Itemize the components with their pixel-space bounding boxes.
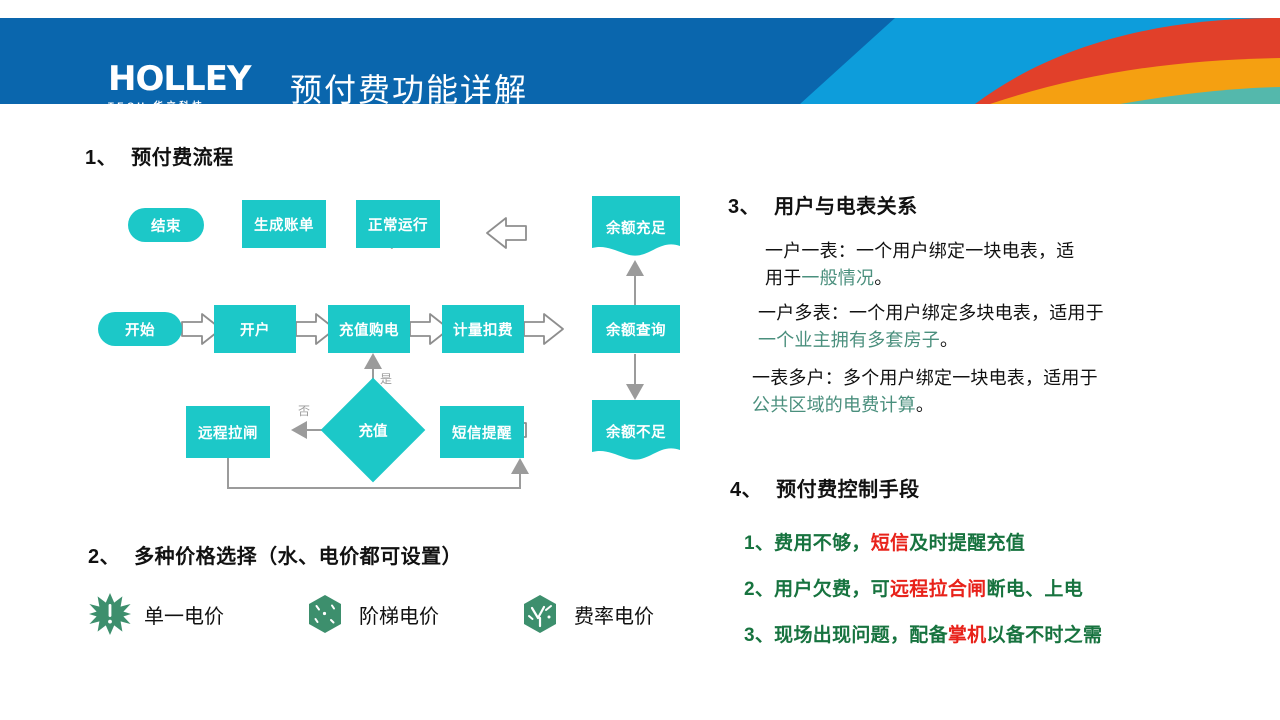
- slide-root: HOLLEY TECH 华立科技 预付费功能详解 1、预付费流程: [0, 0, 1280, 720]
- section-2-title: 多种价格选择（水、电价都可设置）: [134, 546, 462, 568]
- section-1-title: 预付费流程: [131, 147, 234, 169]
- relation-0-tail: 。: [874, 268, 892, 288]
- prepaid-flowchart: 结束 生成账单 正常运行 余额充足 开始 开户 充值购电 计量扣费 余额查询 远…: [80, 180, 700, 500]
- flow-node-end: 结束: [128, 208, 204, 242]
- relation-2-tail: 。: [916, 395, 934, 415]
- control-0-number: 1、: [744, 533, 774, 554]
- section-3-number: 3、: [728, 196, 760, 218]
- control-1-pre: 用户欠费，可: [774, 579, 890, 600]
- price-option-0-label: 单一电价: [144, 600, 224, 629]
- price-option-1[interactable]: 阶梯电价: [303, 592, 439, 636]
- control-2-pre: 现场出现问题，配备: [774, 625, 948, 646]
- flow-node-recharge-decision-label: 充值: [359, 420, 388, 441]
- section-1-number: 1、: [85, 147, 117, 169]
- control-1-red: 远程拉合闸: [890, 579, 987, 600]
- flow-node-balance-insufficient: 余额不足: [592, 400, 680, 462]
- section-heading-1: 1、预付费流程: [85, 141, 234, 170]
- slide-header: HOLLEY TECH 华立科技 预付费功能详解: [0, 18, 1280, 104]
- page-title: 预付费功能详解: [290, 65, 528, 104]
- flow-node-balance-sufficient-label: 余额充足: [606, 217, 666, 238]
- section-heading-3: 3、用户与电表关系: [728, 190, 918, 219]
- section-heading-2: 2、多种价格选择（水、电价都可设置）: [88, 540, 462, 569]
- flow-node-balance-query: 余额查询: [592, 305, 680, 353]
- relation-1-highlight: 一个业主拥有多套房子: [758, 330, 940, 350]
- flow-node-start: 开始: [98, 312, 182, 346]
- control-2-number: 3、: [744, 625, 774, 646]
- flow-node-recharge-decision: 充值: [336, 393, 410, 467]
- burst-alert-icon: [88, 592, 132, 636]
- relation-item-1: 一户多表：一个用户绑定多块电表，适用于一个业主拥有多套房子。: [758, 300, 1108, 354]
- relation-1-tail: 。: [940, 330, 958, 350]
- control-1-number: 2、: [744, 579, 774, 600]
- control-0-red: 短信: [871, 533, 910, 554]
- flow-node-normal-run: 正常运行: [356, 200, 440, 248]
- price-option-1-label: 阶梯电价: [359, 600, 439, 629]
- price-option-0[interactable]: 单一电价: [88, 592, 224, 636]
- flow-edge-label-yes: 是: [380, 370, 392, 387]
- section-4-number: 4、: [730, 479, 762, 501]
- flow-node-generate-bill: 生成账单: [242, 200, 326, 248]
- hexagon-rate-icon: [518, 592, 562, 636]
- control-measure-1: 2、用户欠费，可远程拉合闸断电、上电: [744, 574, 1083, 601]
- control-1-mid: 断电、上电: [987, 579, 1084, 600]
- flow-edge-label-no: 否: [298, 402, 310, 419]
- flow-node-recharge-buy: 充值购电: [328, 305, 410, 353]
- flow-node-sms-remind: 短信提醒: [440, 406, 524, 458]
- flow-node-remote-trip: 远程拉闸: [186, 406, 270, 458]
- section-heading-4: 4、预付费控制手段: [730, 473, 920, 502]
- section-2-number: 2、: [88, 546, 120, 568]
- control-0-mid: 及时提醒充值: [909, 533, 1025, 554]
- section-3-title: 用户与电表关系: [774, 196, 918, 218]
- relation-item-2: 一表多户：多个用户绑定一块电表，适用于公共区域的电费计算。: [752, 365, 1102, 419]
- control-2-red: 掌机: [948, 625, 987, 646]
- price-option-2-label: 费率电价: [574, 600, 654, 629]
- control-measure-0: 1、费用不够，短信及时提醒充值: [744, 528, 1025, 555]
- control-measure-2: 3、现场出现问题，配备掌机以备不时之需: [744, 620, 1102, 647]
- price-option-2[interactable]: 费率电价: [518, 592, 654, 636]
- control-2-mid: 以备不时之需: [986, 625, 1102, 646]
- flow-node-balance-sufficient: 余额充足: [592, 196, 680, 258]
- holley-logo: HOLLEY TECH 华立科技: [108, 62, 260, 104]
- hexagon-step-icon: [303, 592, 347, 636]
- relation-item-0: 一户一表：一个用户绑定一块电表，适用于一般情况。: [765, 238, 1080, 292]
- relation-2-lead: 一表多户：多个用户绑定一块电表，适用于: [752, 368, 1098, 388]
- flow-node-open-account: 开户: [214, 305, 296, 353]
- flow-node-metering-deduct: 计量扣费: [442, 305, 524, 353]
- control-0-pre: 费用不够，: [774, 533, 871, 554]
- relation-1-lead: 一户多表：一个用户绑定多块电表，适用于: [758, 303, 1104, 323]
- flow-node-balance-insufficient-label: 余额不足: [606, 421, 666, 442]
- relation-0-highlight: 一般情况: [801, 268, 874, 288]
- relation-2-highlight: 公共区域的电费计算: [752, 395, 916, 415]
- logo-wordmark: HOLLEY: [108, 62, 260, 96]
- header-decoration-swoosh: [720, 18, 1280, 104]
- section-4-title: 预付费控制手段: [776, 479, 920, 501]
